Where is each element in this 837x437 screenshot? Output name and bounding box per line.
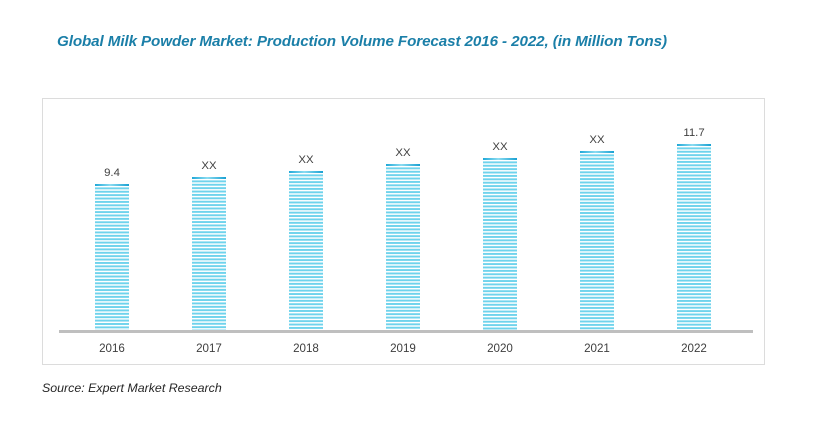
bar-group[interactable]: XX <box>192 177 226 330</box>
bar-group[interactable]: XX <box>580 151 614 330</box>
bar-value-label: XX <box>362 147 444 159</box>
x-axis-label-2018: 2018 <box>265 342 347 355</box>
bar-2020[interactable] <box>483 158 517 330</box>
bar-2019[interactable] <box>386 164 420 330</box>
bar-group[interactable]: XX <box>386 164 420 330</box>
bar-group[interactable]: XX <box>289 171 323 330</box>
source-note: Source: Expert Market Research <box>42 381 222 395</box>
category-axis-line <box>59 330 753 333</box>
bar-2021[interactable] <box>580 151 614 330</box>
x-axis-label-2019: 2019 <box>362 342 444 355</box>
bar-group[interactable]: 9.4 <box>95 184 129 330</box>
bar-value-label: 9.4 <box>71 167 153 179</box>
bar-group[interactable]: XX <box>483 158 517 330</box>
bar-2016[interactable] <box>95 184 129 330</box>
bar-2018[interactable] <box>289 171 323 330</box>
bar-value-label: 11.7 <box>653 127 735 139</box>
plot-frame: 9.4 XX XX XX XX XX <box>42 98 765 365</box>
plot-area: 9.4 XX XX XX XX XX <box>43 99 766 366</box>
chart-canvas: Global Milk Powder Market: Production Vo… <box>0 0 837 437</box>
x-axis-label-2022: 2022 <box>653 342 735 355</box>
bar-value-label: XX <box>556 134 638 146</box>
bar-group[interactable]: 11.7 <box>677 144 711 330</box>
bar-2017[interactable] <box>192 177 226 330</box>
bar-value-label: XX <box>265 154 347 166</box>
page-title: Global Milk Powder Market: Production Vo… <box>57 33 797 50</box>
bar-value-label: XX <box>168 160 250 172</box>
x-axis-label-2017: 2017 <box>168 342 250 355</box>
x-axis-label-2021: 2021 <box>556 342 638 355</box>
bar-2022[interactable] <box>677 144 711 330</box>
x-axis-label-2020: 2020 <box>459 342 541 355</box>
x-axis-label-2016: 2016 <box>71 342 153 355</box>
bar-value-label: XX <box>459 141 541 153</box>
